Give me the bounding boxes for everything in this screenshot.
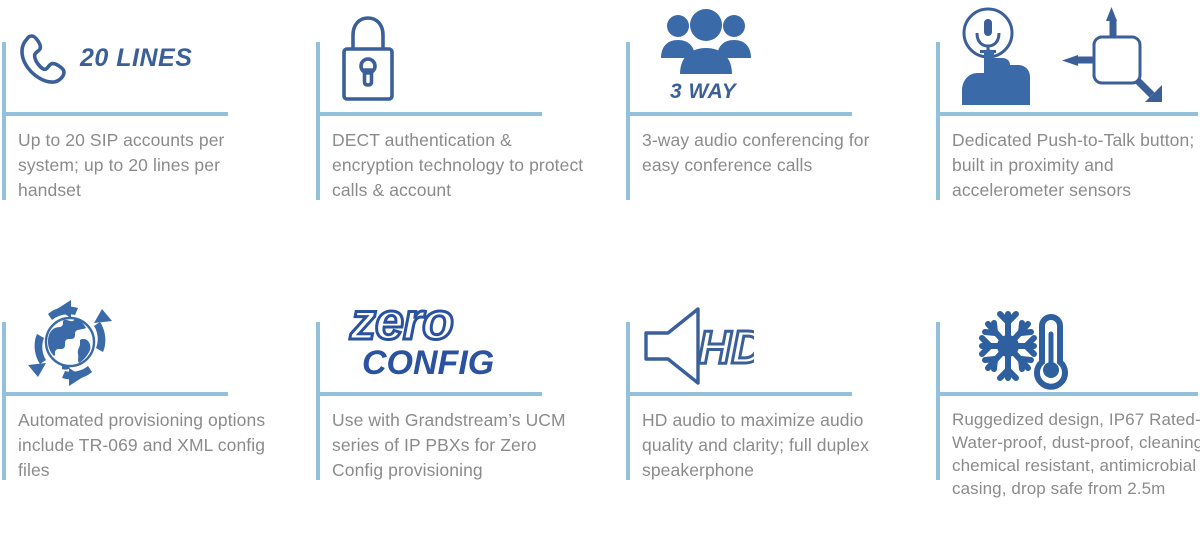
accent-horizontal-divider bbox=[2, 112, 228, 116]
feature-grid-board: 20 LINES Up to 20 SIP accounts per syste… bbox=[0, 0, 1200, 540]
feature-description: Use with Grandstream’s UCM series of IP … bbox=[332, 408, 590, 483]
icon-area: HD bbox=[642, 294, 892, 398]
icon-area: 20 LINES bbox=[18, 6, 268, 110]
feature-card-push-to-talk: Dedicated Push-to-Talk button; built in … bbox=[934, 0, 1200, 280]
accent-horizontal-divider bbox=[626, 112, 852, 116]
feature-card-provisioning: Automated provisioning options include T… bbox=[0, 280, 314, 540]
feature-description: Up to 20 SIP accounts per system; up to … bbox=[18, 128, 276, 203]
padlock-icon bbox=[332, 8, 404, 108]
icon-area bbox=[18, 290, 268, 394]
icon-area: zero CONFIG bbox=[332, 298, 582, 402]
feature-description: HD audio to maximize audio quality and c… bbox=[642, 408, 900, 483]
icon-area bbox=[332, 6, 582, 110]
feature-card-hd-audio: HD HD audio to maximize audio quality an… bbox=[624, 280, 934, 540]
accent-vertical-bar bbox=[936, 322, 940, 480]
feature-card-ruggedized: Ruggedized design, IP67 Rated-Water-proo… bbox=[934, 280, 1200, 540]
feature-card-conference: 3 WAY 3-way audio conferencing for easy … bbox=[624, 0, 934, 280]
globe-rotating-arrows-icon bbox=[18, 292, 122, 392]
feature-card-lines: 20 LINES Up to 20 SIP accounts per syste… bbox=[0, 0, 314, 280]
feature-description: DECT authentication & encryption technol… bbox=[332, 128, 590, 203]
snowflake-thermometer-icon bbox=[974, 304, 1078, 392]
three-people-group-icon bbox=[658, 6, 754, 78]
icon-area: 3 WAY bbox=[642, 6, 892, 110]
lines-badge-label: 20 LINES bbox=[80, 44, 192, 73]
feature-grid: 20 LINES Up to 20 SIP accounts per syste… bbox=[0, 0, 1200, 540]
feature-description: Ruggedized design, IP67 Rated-Water-proo… bbox=[952, 408, 1200, 500]
accent-vertical-bar bbox=[2, 42, 6, 200]
feature-card-security: DECT authentication & encryption technol… bbox=[314, 0, 624, 280]
accent-vertical-bar bbox=[936, 42, 940, 200]
speaker-hd-icon: HD bbox=[642, 303, 754, 389]
accent-vertical-bar bbox=[626, 322, 630, 480]
accent-horizontal-divider bbox=[936, 112, 1198, 116]
feature-description: 3-way audio conferencing for easy confer… bbox=[642, 128, 900, 178]
feature-card-zero-config: zero CONFIG Use with Grandstream’s UCM s… bbox=[314, 280, 624, 540]
accent-horizontal-divider bbox=[316, 112, 542, 116]
feature-description: Automated provisioning options include T… bbox=[18, 408, 276, 483]
conference-badge-label: 3 WAY bbox=[670, 80, 736, 104]
zero-config-logo-config-text: CONFIG bbox=[362, 346, 494, 380]
accent-vertical-bar bbox=[316, 322, 320, 480]
phone-handset-icon bbox=[18, 29, 74, 87]
accent-vertical-bar bbox=[316, 42, 320, 200]
icon-area bbox=[948, 6, 1198, 110]
accent-vertical-bar bbox=[2, 322, 6, 480]
svg-text:HD: HD bbox=[698, 321, 754, 373]
hand-press-microphone-icon bbox=[948, 5, 1048, 111]
accelerometer-axes-icon bbox=[1052, 5, 1172, 111]
accent-vertical-bar bbox=[626, 42, 630, 200]
zero-config-logo-zero-text: zero bbox=[350, 298, 453, 346]
icon-area bbox=[974, 296, 1200, 400]
feature-description: Dedicated Push-to-Talk button; built in … bbox=[952, 128, 1200, 203]
